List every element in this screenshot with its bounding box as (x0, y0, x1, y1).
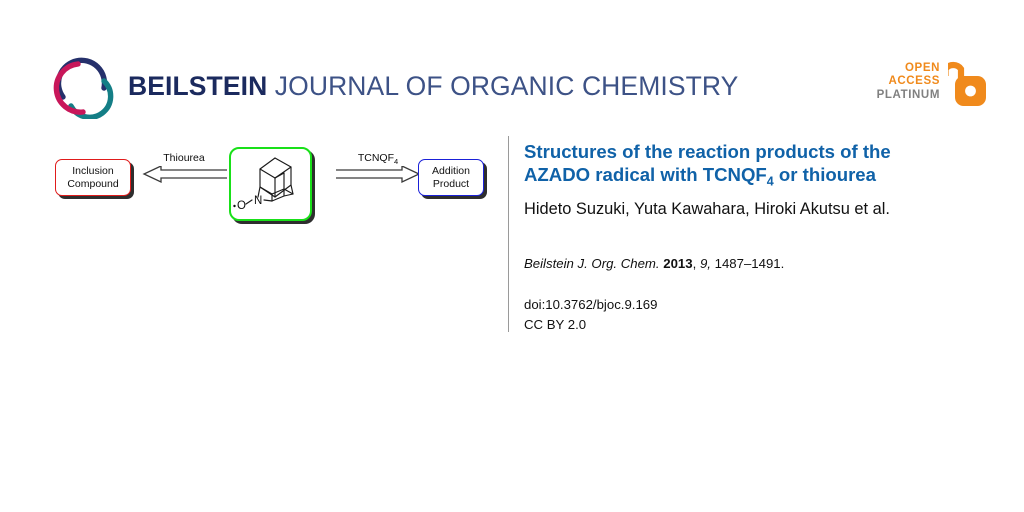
article-license: CC BY 2.0 (524, 315, 994, 335)
journal-title: BEILSTEIN JOURNAL OF ORGANIC CHEMISTRY (128, 71, 738, 102)
journal-title-light: JOURNAL OF ORGANIC CHEMISTRY (267, 71, 738, 101)
oxygen-atom-label: O (237, 200, 246, 212)
article-citation: Beilstein J. Org. Chem. 2013, 9, 1487–14… (524, 255, 994, 273)
vertical-divider (508, 136, 509, 332)
addition-product-label-line1: Addition (432, 165, 470, 178)
citation-journal: Beilstein J. Org. Chem. (524, 256, 660, 271)
article-title-line2-pre: AZADO radical with TCNQF (524, 164, 767, 185)
thiourea-arrow-label: Thiourea (141, 152, 227, 164)
azado-radical-structure-icon: N O (231, 149, 310, 219)
open-access-line-open: OPEN (877, 62, 940, 76)
article-title-line1: Structures of the reaction products of t… (524, 141, 891, 162)
open-access-text: OPEN ACCESS PLATINUM (877, 62, 940, 103)
doi-license-block: doi:10.3762/bjoc.9.169 CC BY 2.0 (524, 295, 994, 334)
inclusion-compound-box: Inclusion Compound (55, 159, 131, 196)
nitrogen-atom-label: N (254, 195, 262, 207)
article-doi[interactable]: doi:10.3762/bjoc.9.169 (524, 295, 994, 315)
citation-pages: 1487–1491. (715, 256, 785, 271)
open-access-line-access: ACCESS (877, 75, 940, 89)
open-lock-icon (948, 56, 990, 108)
radical-dot-icon (233, 205, 235, 207)
article-info-panel: Structures of the reaction products of t… (524, 140, 994, 334)
article-title-line2-sub: 4 (767, 175, 774, 189)
journal-title-bold: BEILSTEIN (128, 71, 267, 101)
addition-product-box: Addition Product (418, 159, 484, 196)
article-title-line2-post: or thiourea (774, 164, 876, 185)
tcnqf4-arrow-label: TCNQF4 (334, 152, 422, 166)
inclusion-compound-label-line1: Inclusion (72, 165, 113, 178)
article-title: Structures of the reaction products of t… (524, 140, 994, 191)
citation-year: 2013 (663, 256, 692, 271)
open-access-badge: OPEN ACCESS PLATINUM (877, 56, 990, 108)
beilstein-swirl-logo-icon (52, 57, 114, 119)
masthead-header: BEILSTEIN JOURNAL OF ORGANIC CHEMISTRY O… (0, 0, 1024, 130)
article-authors: Hideto Suzuki, Yuta Kawahara, Hiroki Aku… (524, 199, 994, 220)
citation-volume: 9, (700, 256, 711, 271)
tcnqf4-arrow-label-base: TCNQF (358, 152, 394, 164)
reaction-scheme: Inclusion Compound Thiourea (0, 130, 500, 260)
inclusion-compound-label-line2: Compound (67, 178, 118, 191)
addition-product-label-line2: Product (433, 178, 469, 191)
azado-radical-molecule-box: N O (229, 147, 312, 221)
open-access-line-platinum: PLATINUM (877, 89, 940, 103)
tcnqf4-arrow-label-sub: 4 (394, 157, 398, 166)
